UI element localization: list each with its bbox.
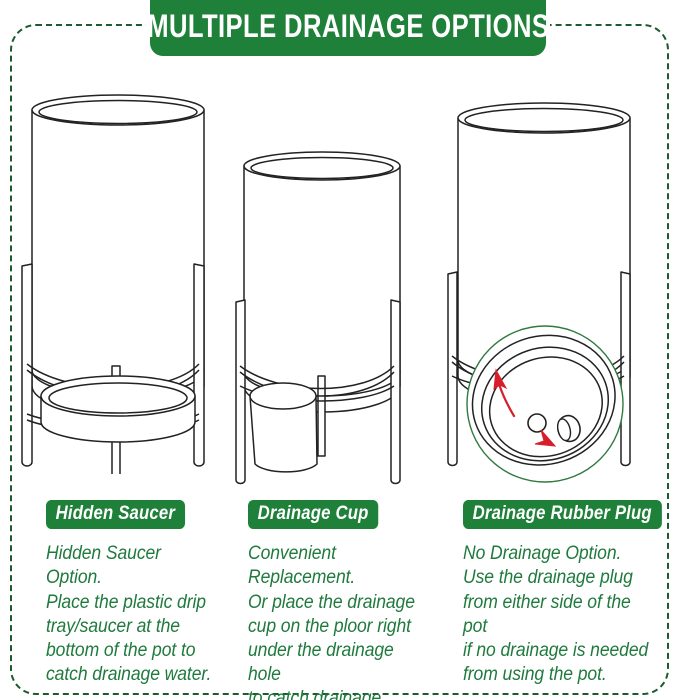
chip-label-hidden-saucer: Hidden Saucer xyxy=(46,500,185,529)
header-banner: MULTIPLE DRAINAGE OPTIONS xyxy=(150,0,546,56)
stand-leg-left xyxy=(22,264,32,466)
illustration-strip xyxy=(0,74,679,494)
illustration-hidden-saucer xyxy=(8,74,228,474)
chip-label-drainage-rubber-plug: Drainage Rubber Plug xyxy=(463,500,661,529)
stand-leg-left xyxy=(448,272,457,466)
chip-label-drainage-cup: Drainage Cup xyxy=(248,500,378,529)
illustration-drainage-cup xyxy=(228,134,438,494)
caption-text-drainage-cup: Convenient Replacement. Or place the dra… xyxy=(248,541,427,700)
page-title: MULTIPLE DRAINAGE OPTIONS xyxy=(147,10,549,44)
stand-leg-right xyxy=(391,300,400,484)
caption-text-drainage-rubber-plug: No Drainage Option. Use the drainage plu… xyxy=(463,541,657,686)
infographic-page: MULTIPLE DRAINAGE OPTIONS xyxy=(0,0,679,700)
caption-column-drainage-rubber-plug: Drainage Rubber Plug No Drainage Option.… xyxy=(447,500,679,690)
hidden-saucer-tray xyxy=(41,376,195,442)
drainage-cup xyxy=(250,383,317,472)
caption-column-drainage-cup: Drainage Cup Convenient Replacement. Or … xyxy=(232,500,447,690)
caption-column-hidden-saucer: Hidden Saucer Hidden Saucer Option. Plac… xyxy=(0,500,232,690)
caption-text-hidden-saucer: Hidden Saucer Option. Place the plastic … xyxy=(46,541,213,686)
drainage-hole xyxy=(528,414,546,432)
caption-columns: Hidden Saucer Hidden Saucer Option. Plac… xyxy=(0,500,679,690)
illustration-drainage-rubber-plug xyxy=(440,84,670,484)
stand-leg-left xyxy=(236,300,245,484)
stand-leg-right xyxy=(621,272,630,466)
